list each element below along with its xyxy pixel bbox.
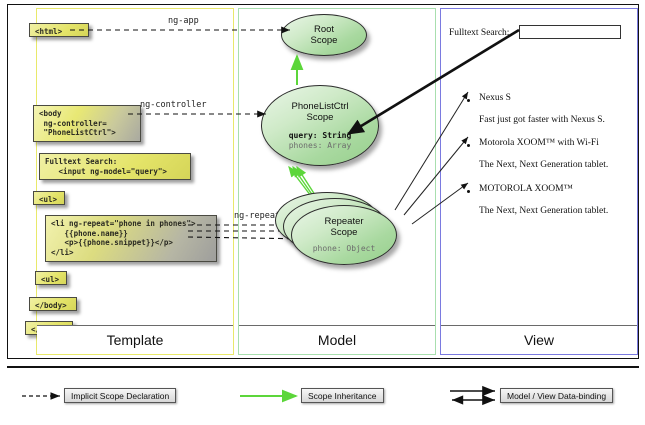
panel-template-body: <html> <body ng-controller= "PhoneListCt… [37,9,233,354]
legend-glyph-model-view-data-binding [450,391,495,400]
panel-view: Fulltext Search: Nexus S Fast just got f… [440,8,638,355]
edge-label-ng-repeat: ng-repeat [234,211,280,221]
panel-view-body: Fulltext Search: Nexus S Fast just got f… [441,9,637,354]
phone-bullet [467,144,470,147]
phone-bullet [467,99,470,102]
panel-template-label: Template [37,325,233,354]
phone-snippet: The Next, Next Generation tablet. [479,160,608,170]
phone-name: Nexus S [479,93,511,103]
code-search-input-snippet: Fulltext Search: <input ng-model="query"… [39,153,191,180]
repeater-scope-ellipse: RepeaterScope phone: Object [291,205,397,265]
repeater-scope-prop-phone: phone: Object [313,244,376,254]
legend-label-scope-inheritance: Scope Inheritance [301,388,384,403]
edge-label-ng-app: ng-app [168,16,199,26]
legend-separator [7,366,639,368]
phonelistctrl-scope-ellipse: PhoneListCtrlScope query: String phones:… [261,85,379,166]
code-html-open-tag: <html> [29,23,89,37]
phone-name: Motorola XOOM™ with Wi-Fi [479,138,599,148]
phone-bullet [467,190,470,193]
panel-model-body: RootScope PhoneListCtrlScope query: Stri… [239,9,435,354]
fulltext-search-label: Fulltext Search: [449,28,509,38]
angularjs-concepts-diagram: <html> <body ng-controller= "PhoneListCt… [0,0,645,425]
root-scope-ellipse: RootScope [281,14,367,56]
repeater-scope-title: RepeaterScope [324,216,363,238]
phone-snippet: Fast just got faster with Nexus S. [479,115,605,125]
legend-label-implicit-scope-declaration: Implicit Scope Declaration [64,388,176,403]
code-body-tag: <body ng-controller= "PhoneListCtrl"> [33,105,141,142]
phone-snippet: The Next, Next Generation tablet. [479,206,608,216]
legend-label-model-view-data-binding: Model / View Data-binding [500,388,613,403]
edge-label-ng-controller: ng-controller [140,100,207,110]
phonelistctrl-scope-title: PhoneListCtrlScope [291,101,348,123]
phonelistctrl-scope-prop-query: query: String [289,131,352,141]
panel-view-label: View [441,325,637,354]
fulltext-search-input[interactable] [519,25,621,39]
phonelistctrl-scope-prop-phones: phones: Array [289,141,352,151]
panel-model: RootScope PhoneListCtrlScope query: Stri… [238,8,436,355]
panel-model-label: Model [239,325,435,354]
phone-name: MOTOROLA XOOM™ [479,184,573,194]
code-ul-close-tag: <ul> [35,271,67,285]
root-scope-title: RootScope [311,24,338,46]
code-ul-open-tag: <ul> [33,191,65,205]
panel-template: <html> <body ng-controller= "PhoneListCt… [36,8,234,355]
code-body-close-tag: </body> [29,297,77,311]
code-li-ng-repeat-snippet: <li ng-repeat="phone in phones"> {{phone… [45,215,217,262]
